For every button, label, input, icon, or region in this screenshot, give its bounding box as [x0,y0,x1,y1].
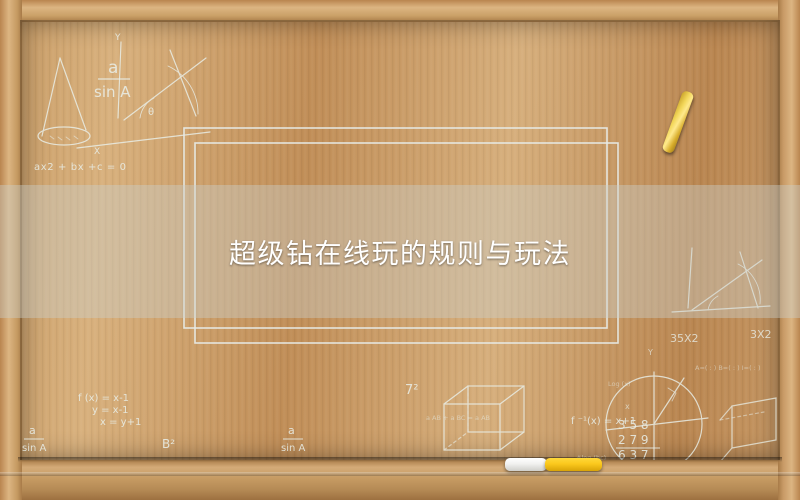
svg-text:Y: Y [647,348,653,357]
svg-text:3 5 8: 3 5 8 [618,418,649,432]
svg-text:7²: 7² [405,383,418,398]
svg-text:ax2 + bx +c = 0: ax2 + bx +c = 0 [34,162,127,173]
svg-text:f (x) = x-1: f (x) = x-1 [78,393,129,404]
svg-text:sin A: sin A [22,443,47,454]
wood-tray-lip [0,472,800,476]
tray-shadow [18,457,782,462]
svg-text:35X2: 35X2 [670,332,699,345]
svg-text:3X2: 3X2 [750,328,772,341]
svg-text:B²: B² [162,437,175,451]
svg-text:sin A: sin A [94,83,131,101]
page-title: 超级钻在线玩的规则与玩法 [0,185,800,318]
svg-text:a: a [108,58,118,78]
svg-text:Y: Y [114,33,121,43]
svg-text:sin A: sin A [281,443,306,454]
svg-text:x: x [625,402,630,411]
chalkboard-banner: a sin A ax2 + bx +c = 0 Y X θ a sin A B²… [0,0,800,500]
svg-text:a: a [29,424,36,437]
svg-text:θ: θ [148,107,154,118]
svg-text:x = y+1: x = y+1 [100,417,141,428]
chalk-stick-white-on-tray [505,458,547,471]
svg-text:a: a [288,424,295,437]
svg-text:f ⁻¹(x) = x+1: f ⁻¹(x) = x+1 [571,416,636,427]
svg-text:X: X [94,147,100,157]
svg-text:2 7 9: 2 7 9 [618,433,649,447]
svg-text:Log (x): Log (x) [608,380,631,388]
wood-frame-bottom-tray [0,460,800,500]
wood-frame-top [0,0,800,22]
chalk-stick-yellow-on-board [661,90,694,154]
svg-text:A=( : ) B=( : ) I=( : ): A=( : ) B=( : ) I=( : ) [695,364,760,372]
svg-text:y = x-1: y = x-1 [92,405,129,416]
chalk-stick-yellow-on-tray [545,458,602,471]
svg-text:a AB + a BC = a AB: a AB + a BC = a AB [426,414,490,422]
